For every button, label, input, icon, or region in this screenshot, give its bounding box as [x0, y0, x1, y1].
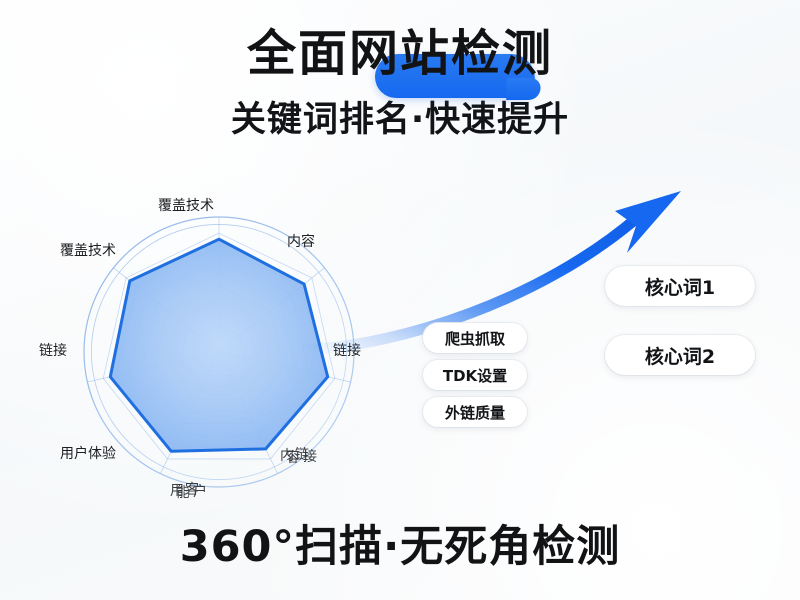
poster-canvas: 全面网站检测 关键词排名·快速提升 覆盖技术 内容 链接 内容链接	[0, 0, 800, 600]
keyword-pill-2[interactable]: 核心词2	[605, 335, 755, 375]
title-part-after: 检测	[451, 25, 553, 82]
tag-pill-crawl[interactable]: 爬虫抓取	[423, 323, 527, 353]
tag-pill-backlink[interactable]: 外链质量	[423, 397, 527, 427]
footer-headline: 360°扫描·无死角检测	[0, 512, 800, 574]
radar-label-bottom: 用能客户	[170, 480, 214, 500]
title-part-before: 全面	[247, 25, 349, 82]
radar-label-upper-right: 内容	[287, 231, 315, 251]
radar-label-left: 链接	[39, 340, 67, 360]
page-subtitle: 关键词排名·快速提升	[0, 91, 800, 142]
arrow-head	[615, 191, 681, 253]
title-part-highlight: 网站	[349, 25, 451, 82]
page-title: 全面网站检测	[247, 28, 553, 79]
headline-block: 全面网站检测 关键词排名·快速提升	[0, 28, 800, 142]
radar-label-upper-left: 覆盖技术	[60, 240, 116, 260]
keyword-pill-1[interactable]: 核心词1	[605, 266, 755, 306]
tag-pill-tdk[interactable]: TDK设置	[423, 360, 527, 390]
radar-series	[110, 239, 327, 451]
radar-label-lower-right: 内容链接	[280, 445, 324, 465]
radar-chart: 覆盖技术 内容 链接 内容链接 用能客户 用户体验 链接 覆盖技术	[28, 185, 410, 510]
radar-label-right: 链接	[333, 340, 361, 360]
radar-label-top: 覆盖技术	[158, 195, 214, 215]
radar-label-lower-left: 用户体验	[60, 443, 116, 463]
